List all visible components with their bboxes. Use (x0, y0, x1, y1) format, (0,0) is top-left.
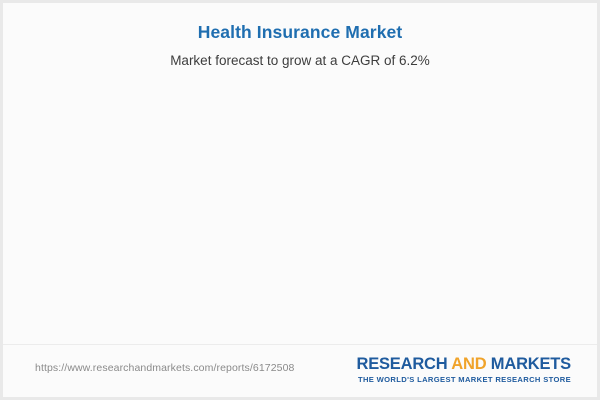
logo-wordmark: RESEARCH AND MARKETS (356, 355, 571, 374)
report-url[interactable]: https://www.researchandmarkets.com/repor… (35, 362, 294, 374)
logo-markets-text: MARKETS (486, 355, 571, 373)
logo-tagline: THE WORLD'S LARGEST MARKET RESEARCH STOR… (356, 375, 571, 384)
chart-plot-area: USD 1.58 Trillion (3, 3, 600, 348)
footer: https://www.researchandmarkets.com/repor… (3, 344, 597, 397)
logo-and-text: AND (451, 355, 486, 373)
logo-research-text: RESEARCH (356, 355, 451, 373)
brand-logo[interactable]: RESEARCH AND MARKETS THE WORLD'S LARGEST… (356, 355, 571, 384)
chart-card: Health Insurance Market Market forecast … (0, 0, 600, 400)
